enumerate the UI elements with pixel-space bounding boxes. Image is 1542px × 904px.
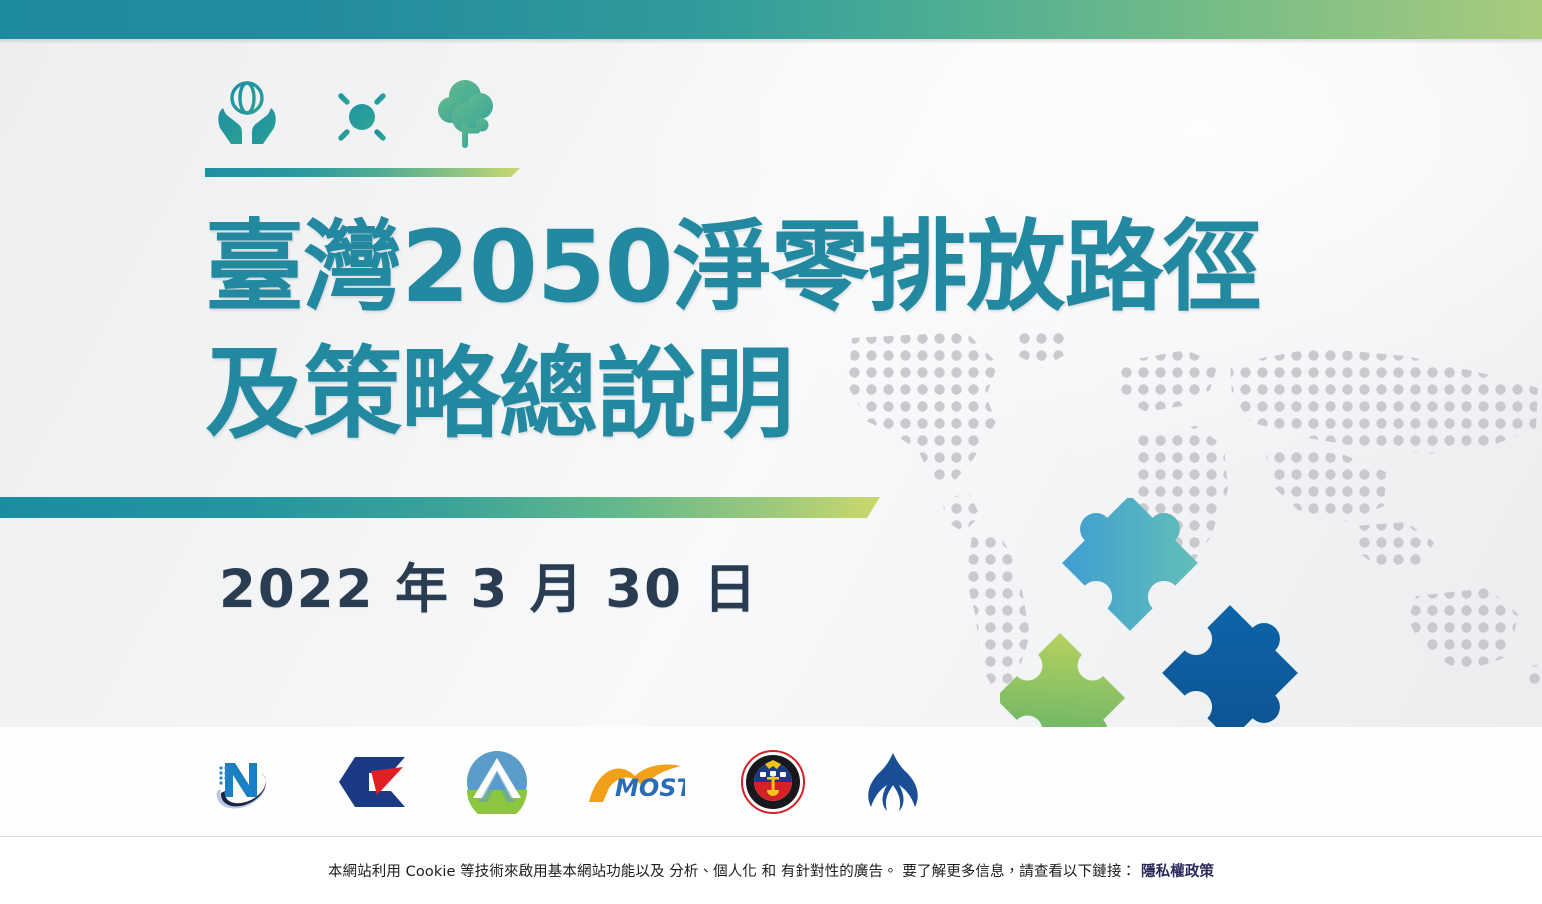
puzzle-piece-blue xyxy=(1051,498,1209,631)
top-gradient-band xyxy=(0,0,1542,39)
logo-mnd[interactable] xyxy=(741,750,805,814)
sun-icon xyxy=(329,84,395,150)
title-line-2: 及策略總說明 xyxy=(205,332,1385,459)
svg-text:MOST: MOST xyxy=(615,774,685,802)
logo-moea-flame[interactable] xyxy=(861,751,925,813)
cookie-banner-text: 本網站利用 Cookie 等技術來啟用基本網站功能以及 分析、個人化 和 有針對… xyxy=(328,860,1214,881)
top-band-shadow xyxy=(0,39,1542,44)
logo-most[interactable]: MOST xyxy=(585,754,685,810)
puzzle-piece-navy xyxy=(1162,594,1320,727)
eco-icon-row xyxy=(207,78,503,150)
title-line-1: 臺灣2050淨零排放路徑 xyxy=(205,205,1385,332)
logo-epa[interactable] xyxy=(465,750,529,814)
cookie-consent-banner: 本網站利用 Cookie 等技術來啟用基本網站功能以及 分析、個人化 和 有針對… xyxy=(0,837,1542,904)
tree-icon xyxy=(437,78,503,150)
puzzle-piece-green xyxy=(1000,633,1136,727)
puzzle-pieces-graphic xyxy=(1000,498,1350,727)
slide-date: 2022 年 3 月 30 日 xyxy=(219,563,758,616)
icon-underline-bar xyxy=(205,168,520,177)
logo-ndc[interactable] xyxy=(207,751,277,813)
cookie-banner-message: 本網站利用 Cookie 等技術來啟用基本網站功能以及 分析、個人化 和 有針對… xyxy=(328,864,1136,880)
logo-moea-arrow[interactable] xyxy=(333,753,409,811)
presentation-slide: 臺灣2050淨零排放路徑 及策略總說明 2022 年 3 月 30 日 xyxy=(0,0,1542,727)
agency-logo-bar: MOST xyxy=(0,727,1542,836)
hands-holding-globe-icon xyxy=(207,78,287,150)
slide-title-block: 臺灣2050淨零排放路徑 及策略總說明 xyxy=(205,205,1385,458)
privacy-policy-link[interactable]: 隱私權政策 xyxy=(1141,864,1214,880)
accent-gradient-bar xyxy=(0,497,880,518)
